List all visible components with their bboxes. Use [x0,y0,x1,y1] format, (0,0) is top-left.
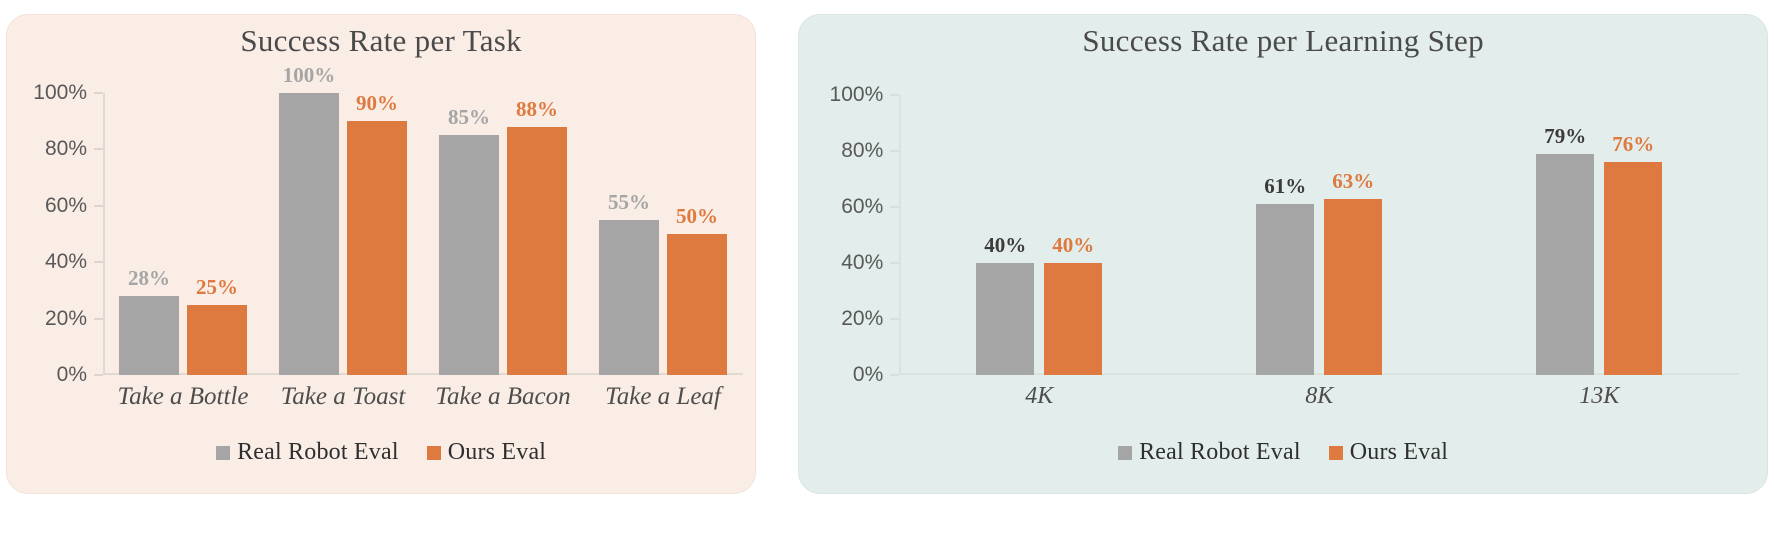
bar-groups: 28%25%100%90%85%88%55%50% [103,93,743,375]
bar-value-label: 40% [1052,233,1094,258]
bar-pair: 28%25% [119,93,247,375]
bar-value-label: 61% [1264,174,1306,199]
bar-real-robot-eval[interactable]: 100% [279,93,339,375]
bar-group: 40%40% [899,95,1179,375]
bar-real-robot-eval[interactable]: 79% [1536,154,1594,375]
y-axis-tick [94,205,103,207]
bar-group: 100%90% [263,93,423,375]
y-axis-tick [94,318,103,320]
bar-ours-eval[interactable]: 40% [1044,263,1102,375]
chart-legend: Real Robot Eval Ours Eval [7,439,755,466]
legend-item-real-robot-eval[interactable]: Real Robot Eval [216,439,399,466]
bar-value-label: 79% [1544,124,1586,149]
y-axis-tick [890,374,899,376]
bar-real-robot-eval[interactable]: 61% [1256,204,1314,375]
bar-pair: 61%63% [1256,95,1382,375]
bar-pair: 55%50% [599,93,727,375]
legend-swatch-icon [216,446,230,460]
y-axis-tick-label: 80% [841,139,883,163]
bar-value-label: 90% [356,91,398,116]
bar-value-label: 63% [1332,169,1374,194]
x-axis-label: 8K [1179,383,1459,410]
bar-group: 85%88% [423,93,583,375]
bar-pair: 100%90% [279,93,407,375]
bar-ours-eval[interactable]: 88% [507,127,567,375]
x-axis-label: Take a Leaf [583,383,743,411]
y-axis-tick-label: 60% [841,195,883,219]
x-axis-labels: 4K8K13K [899,383,1739,410]
y-axis-tick [94,261,103,263]
y-axis-tick-label: 0% [853,363,883,387]
x-axis-label: Take a Toast [263,383,423,411]
bar-group: 79%76% [1459,95,1739,375]
y-axis-tick [94,92,103,94]
x-axis-label: 13K [1459,383,1739,410]
legend-label: Ours Eval [448,439,546,466]
legend-label: Real Robot Eval [237,439,399,466]
y-axis-tick-label: 0% [57,363,87,387]
y-axis-tick-label: 100% [830,83,884,107]
figure-container: Success Rate per Task 0%20%40%60%80%100%… [0,0,1774,550]
plot-area: 0%20%40%60%80%100% 40%40%61%63%79%76% [899,95,1739,375]
bar-ours-eval[interactable]: 63% [1324,199,1382,375]
y-axis-tick [94,148,103,150]
bar-value-label: 88% [516,97,558,122]
bar-group: 28%25% [103,93,263,375]
plot-area: 0%20%40%60%80%100% 28%25%100%90%85%88%55… [103,93,743,375]
y-axis-tick-label: 20% [841,307,883,331]
bar-real-robot-eval[interactable]: 85% [439,135,499,375]
y-axis-tick [890,94,899,96]
bar-value-label: 55% [608,190,650,215]
bar-value-label: 25% [196,275,238,300]
legend-item-ours-eval[interactable]: Ours Eval [427,439,546,466]
y-axis-tick-label: 40% [841,251,883,275]
y-axis-tick-label: 40% [45,250,87,274]
bar-value-label: 100% [283,63,336,88]
bar-real-robot-eval[interactable]: 55% [599,220,659,375]
bar-value-label: 50% [676,204,718,229]
y-axis-tick [890,318,899,320]
legend-swatch-icon [1329,446,1343,460]
bar-value-label: 85% [448,105,490,130]
bar-groups: 40%40%61%63%79%76% [899,95,1739,375]
legend-swatch-icon [427,446,441,460]
x-axis-label: Take a Bacon [423,383,583,411]
x-axis-labels: Take a BottleTake a ToastTake a BaconTak… [103,383,743,411]
chart-legend: Real Robot Eval Ours Eval [799,439,1767,466]
bar-group: 55%50% [583,93,743,375]
y-axis-tick-label: 80% [45,137,87,161]
y-axis-tick [94,374,103,376]
bar-ours-eval[interactable]: 76% [1604,162,1662,375]
bar-ours-eval[interactable]: 25% [187,305,247,376]
y-axis-tick [890,150,899,152]
y-axis-tick [890,206,899,208]
chart-panel-success-rate-per-learning-step: Success Rate per Learning Step 0%20%40%6… [798,14,1768,494]
y-axis-tick [890,262,899,264]
bar-group: 61%63% [1179,95,1459,375]
bar-value-label: 40% [984,233,1026,258]
y-axis-tick-label: 100% [33,81,87,105]
x-axis-label: Take a Bottle [103,383,263,411]
legend-swatch-icon [1118,446,1132,460]
bar-ours-eval[interactable]: 50% [667,234,727,375]
bar-value-label: 76% [1612,132,1654,157]
legend-label: Ours Eval [1350,439,1448,466]
y-axis-tick-label: 20% [45,307,87,331]
bar-real-robot-eval[interactable]: 40% [976,263,1034,375]
bar-pair: 40%40% [976,95,1102,375]
bar-value-label: 28% [128,266,170,291]
legend-item-real-robot-eval[interactable]: Real Robot Eval [1118,439,1301,466]
y-axis-tick-label: 60% [45,194,87,218]
bar-pair: 79%76% [1536,95,1662,375]
x-axis-label: 4K [899,383,1179,410]
legend-label: Real Robot Eval [1139,439,1301,466]
legend-item-ours-eval[interactable]: Ours Eval [1329,439,1448,466]
chart-title: Success Rate per Task [7,23,755,59]
bar-ours-eval[interactable]: 90% [347,121,407,375]
chart-panel-success-rate-per-task: Success Rate per Task 0%20%40%60%80%100%… [6,14,756,494]
chart-title: Success Rate per Learning Step [799,23,1767,59]
bar-real-robot-eval[interactable]: 28% [119,296,179,375]
bar-pair: 85%88% [439,93,567,375]
